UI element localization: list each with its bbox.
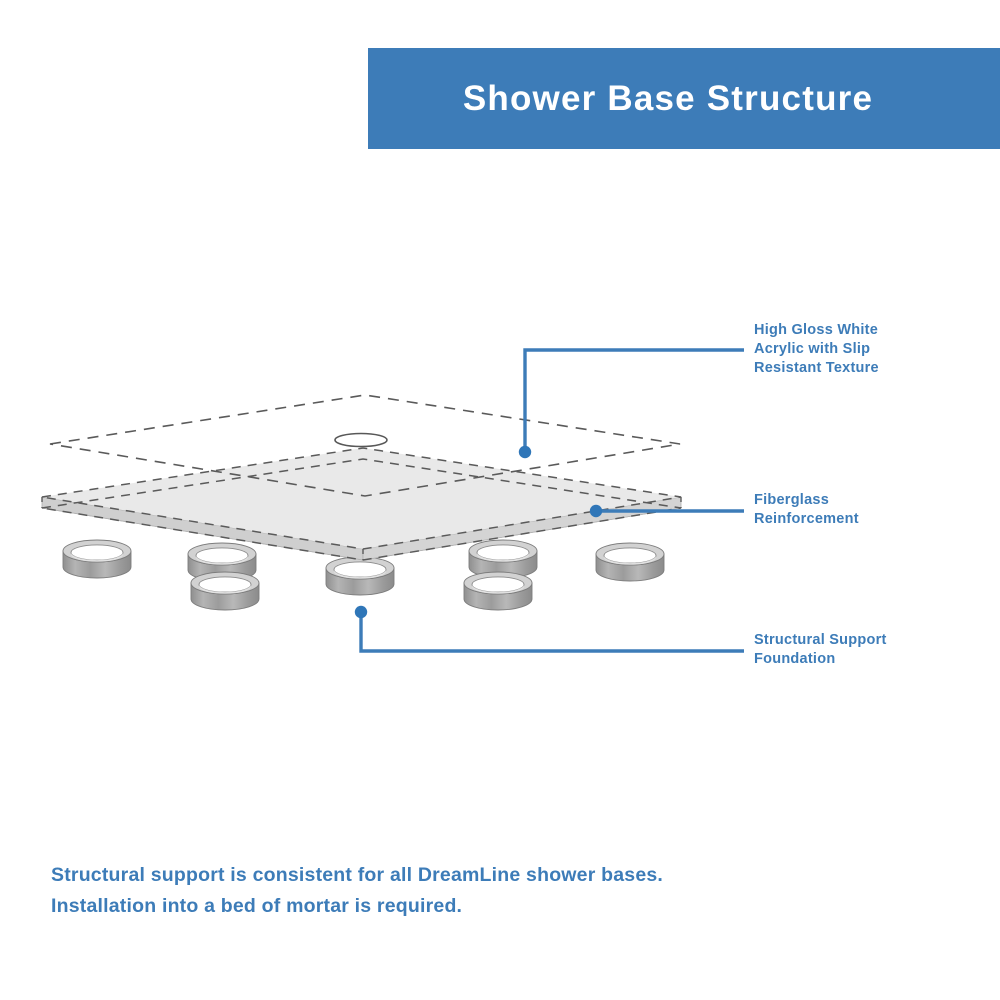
callout-support-line2: Foundation [754, 650, 954, 669]
callout-support-line1: Structural Support [754, 631, 954, 650]
fiberglass-slab [42, 448, 681, 560]
callout-fiberglass-line1: Fiberglass [754, 491, 954, 510]
drain-opening [335, 434, 387, 447]
callout-acrylic: High Gloss White Acrylic with Slip Resis… [754, 321, 954, 378]
callout-fiberglass-line2: Reinforcement [754, 510, 954, 529]
callout-fiberglass: Fiberglass Reinforcement [754, 491, 954, 529]
support-ring [63, 540, 131, 578]
support-ring [191, 572, 259, 610]
shower-base-structure-page: Shower Base Structure [0, 0, 1000, 1000]
leader-dot-acrylic [519, 446, 531, 458]
callout-acrylic-line1: High Gloss White [754, 321, 954, 340]
callout-acrylic-line2: Acrylic with Slip [754, 340, 954, 359]
leader-line-acrylic [525, 350, 744, 451]
footer-caption: Structural support is consistent for all… [51, 860, 691, 922]
callout-acrylic-line3: Resistant Texture [754, 359, 954, 378]
support-ring [464, 572, 532, 610]
support-ring [596, 543, 664, 581]
callout-support: Structural Support Foundation [754, 631, 954, 669]
leader-dot-support [355, 606, 367, 618]
support-ring [326, 557, 394, 595]
leader-dot-fiberglass [590, 505, 602, 517]
leader-line-support [361, 613, 744, 651]
